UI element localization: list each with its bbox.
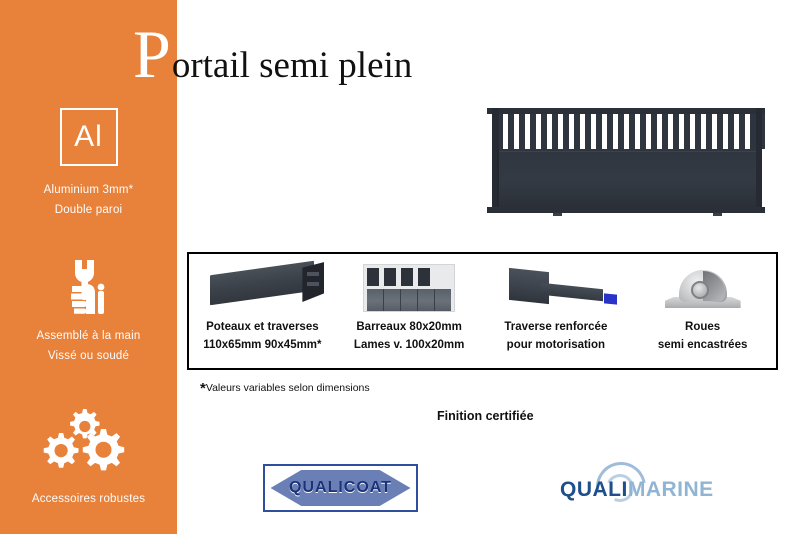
bars-row (367, 268, 451, 286)
sidebar-feature-assembly-line2: Vissé ou soudé (0, 346, 177, 366)
portail-semi-plein-gate-image (487, 108, 765, 218)
bars-sample-frame (363, 264, 455, 312)
qualicoat-diamond-shape: QUALICOAT (271, 470, 411, 506)
certification-heading: Finition certifiée (437, 409, 534, 423)
post-body-shape (210, 261, 314, 306)
sidebar-feature-accessories: Accessoires robustes (0, 405, 177, 509)
wheel-hub (691, 281, 709, 299)
reinforced-crossbar-art (483, 262, 630, 316)
sidebar-feature-assembly-line1: Assemblé à la main (0, 326, 177, 346)
louver-segment (384, 289, 401, 311)
post-end-section (302, 262, 324, 302)
component-traverse-renforcee: Traverse renforcée pour motorisation (483, 254, 630, 368)
post-profile-art (189, 262, 336, 316)
component-traverse-label-line2: pour motorisation (507, 336, 605, 354)
qualimarine-logo-text-part1: QUALI (560, 478, 628, 501)
wheel-bearing-art (629, 262, 776, 316)
gate-vertical-bars (497, 114, 765, 149)
bars-louvers-art (336, 262, 483, 316)
bar-segment (367, 268, 379, 286)
component-roues: Roues semi encastrées (629, 254, 776, 368)
component-poteaux-traverses: Poteaux et traverses 110x65mm 90x45mm* (189, 254, 336, 368)
louver-segment (418, 289, 435, 311)
component-barreaux-label-line2: Lames v. 100x20mm (354, 336, 464, 354)
gate-foot-left (553, 213, 562, 216)
component-barreaux-label-line1: Barreaux 80x20mm (356, 318, 462, 336)
page-title: P ortail semi plein (133, 22, 412, 86)
component-roues-label-line2: semi encastrées (658, 336, 748, 354)
bar-segment (384, 268, 396, 286)
bar-segment (418, 268, 430, 286)
louver-segment (367, 289, 384, 311)
gate-foot-right (713, 213, 722, 216)
sidebar-feature-aluminium-line2: Double paroi (0, 200, 177, 220)
sidebar-feature-aluminium: Al Aluminium 3mm* Double paroi (0, 108, 177, 220)
page-title-text: ortail semi plein (172, 43, 412, 89)
bar-segment (401, 268, 413, 286)
sidebar-feature-aluminium-line1: Aluminium 3mm* (0, 180, 177, 200)
gate-solid-panel (497, 149, 761, 207)
qualicoat-logo-text: QUALICOAT (289, 479, 392, 497)
wheel-assembly (665, 268, 741, 310)
gate-bottom-rail (487, 207, 765, 213)
component-traverse-label-line1: Traverse renforcée (504, 318, 607, 336)
wrench-hand-icon (0, 258, 177, 316)
louver-row (367, 289, 451, 311)
footnote: *Valeurs variables selon dimensions (200, 380, 370, 397)
component-poteaux-label-line2: 110x65mm 90x45mm* (203, 336, 321, 354)
sidebar-feature-accessories-line1: Accessoires robustes (0, 489, 177, 509)
gears-icon (0, 405, 177, 477)
louver-segment (435, 289, 451, 311)
page-title-initial: P (133, 22, 171, 86)
qualimarine-logo: QUALIMARINE (560, 466, 728, 512)
crossbar-blue-cap (604, 293, 617, 304)
aluminium-symbol-label: Al (74, 122, 103, 152)
aluminium-square-icon: Al (60, 108, 118, 166)
qualimarine-logo-text-part2: MARINE (628, 478, 714, 501)
component-barreaux-lames: Barreaux 80x20mm Lames v. 100x20mm (336, 254, 483, 368)
component-poteaux-label-line1: Poteaux et traverses (206, 318, 319, 336)
gate-right-post (756, 108, 762, 212)
components-panel: Poteaux et traverses 110x65mm 90x45mm* (187, 252, 778, 370)
footnote-text: Valeurs variables selon dimensions (206, 382, 370, 394)
crossbar-rail (541, 283, 603, 302)
component-roues-label-line1: Roues (685, 318, 720, 336)
qualicoat-logo: QUALICOAT (263, 464, 418, 512)
sidebar-feature-assembly: Assemblé à la main Vissé ou soudé (0, 258, 177, 366)
qualimarine-logo-text: QUALIMARINE (560, 478, 714, 502)
louver-segment (401, 289, 418, 311)
